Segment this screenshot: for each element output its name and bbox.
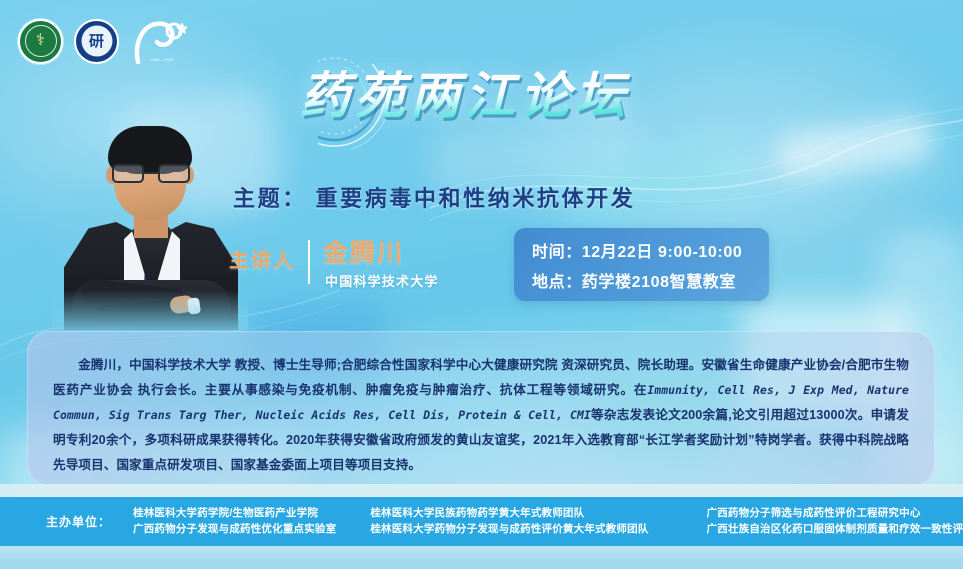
background-blur-shape — [773, 114, 938, 182]
caduceus-icon: ⚕ — [36, 33, 45, 49]
event-info-card: 时间：12月22日 9:00-10:00 地点：药学楼2108智慧教室 — [514, 228, 769, 301]
90th-anniversary-emblem-icon: 1935—2025 — [130, 18, 194, 64]
speaker-divider — [308, 240, 310, 284]
organizer-item: 桂林医科大学民族药物药学黄大年式教师团队 — [370, 507, 648, 520]
glasses-icon — [112, 164, 190, 183]
organizer-column-1: 桂林医科大学药学院/生物医药产业学院 广西药物分子发现与成药性优化重点实验室 — [133, 507, 336, 536]
organizer-item: 广西壮族自治区化药口服固体制剂质量和疗效一致性评价工程研究中心 — [707, 523, 963, 536]
speaker-organization: 中国科学技术大学 — [325, 271, 439, 290]
event-location: 地点：药学楼2108智慧教室 — [532, 268, 769, 292]
organizer-item: 广西药物分子筛选与成药性评价工程研究中心 — [707, 507, 963, 520]
organizer-item: 桂林医科大学药学院/生物医药产业学院 — [133, 507, 336, 520]
topic-title: 主题： 重要病毒中和性纳米抗体开发 — [233, 181, 635, 213]
footer-bar: 主办单位： 桂林医科大学药学院/生物医药产业学院 广西药物分子发现与成药性优化重… — [0, 497, 963, 546]
speaker-bio-panel: 金腾川，中国科学技术大学 教授、博士生导师;合肥综合性国家科学中心大健康研究院 … — [27, 331, 935, 486]
organizer-item: 桂林医科大学药物分子发现与成药性评价黄大年式教师团队 — [370, 523, 648, 536]
footer-top-edge — [0, 484, 963, 497]
speaker-label: 主讲人 — [229, 240, 295, 273]
organizers-label: 主办单位： — [46, 513, 111, 530]
speaker-name: 金腾川 — [323, 240, 439, 266]
organizer-column-3: 广西药物分子筛选与成药性评价工程研究中心 广西壮族自治区化药口服固体制剂质量和疗… — [707, 507, 963, 536]
anniversary-years-label: 1935—2025 — [150, 57, 174, 62]
organizer-column-2: 桂林医科大学民族药物药学黄大年式教师团队 桂林医科大学药物分子发现与成药性评价黄… — [370, 507, 648, 536]
guilin-medical-university-emblem-icon: ⚕ — [18, 19, 63, 64]
partner-institute-emblem-icon: 研 — [74, 19, 119, 64]
event-time: 时间：12月22日 9:00-10:00 — [532, 238, 769, 262]
footer-bottom-edge — [0, 546, 963, 569]
speaker-photo — [52, 118, 248, 330]
photo-bottom-fade — [52, 290, 248, 330]
speaker-details: 金腾川 中国科学技术大学 — [323, 240, 439, 290]
logo-row: ⚕ 研 1935—2025 — [18, 18, 194, 64]
poster-title-text: 药苑两江论坛 — [300, 56, 630, 128]
organizer-item: 广西药物分子发现与成药性优化重点实验室 — [133, 523, 336, 536]
institute-glyph-icon: 研 — [89, 34, 104, 49]
speaker-bio-text: 金腾川，中国科学技术大学 教授、博士生导师;合肥综合性国家科学中心大健康研究院 … — [53, 353, 909, 478]
poster-title: 药苑两江论坛 — [300, 56, 630, 128]
speaker-block: 主讲人 金腾川 中国科学技术大学 — [229, 240, 439, 290]
seminar-poster: ⚕ 研 1935—2025 药苑两江论坛 — [0, 0, 963, 569]
